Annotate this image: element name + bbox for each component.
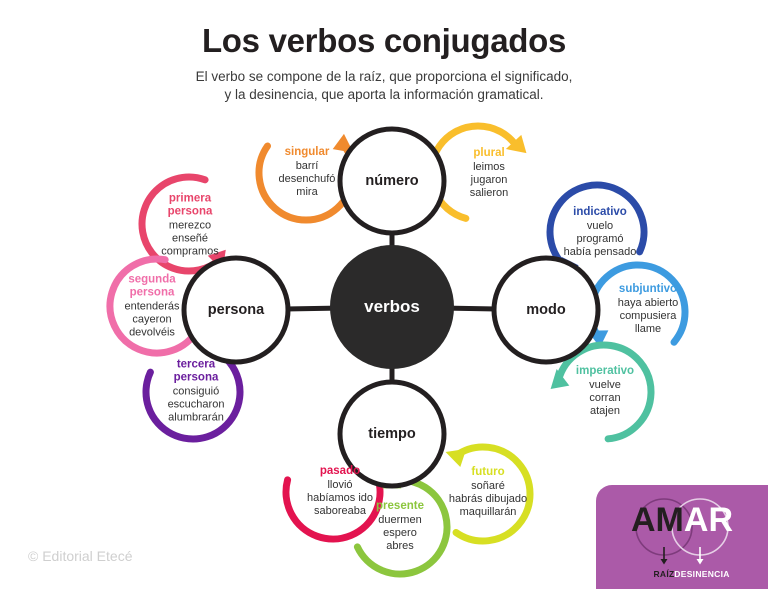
branch-examples-primera-persona: merezcoenseñécompramos — [120, 220, 260, 260]
connector-persona — [285, 308, 336, 309]
branch-title-subjuntivo: subjuntivo — [578, 283, 718, 296]
branch-tercera-persona[interactable]: tercerapersonaconsiguióescucharonalumbra… — [126, 359, 266, 426]
branch-title-imperativo: imperativo — [535, 365, 675, 378]
branch-imperativo[interactable]: imperativovuelvecorranatajen — [535, 365, 675, 419]
branch-title-plural: plural — [419, 147, 559, 160]
brand-word-root: AM — [631, 501, 684, 539]
credit-text: © Editorial Etecé — [28, 548, 132, 564]
branch-examples-plural: leimosjugaronsalieron — [419, 161, 559, 201]
branch-examples-imperativo: vuelvecorranatajen — [535, 379, 675, 419]
branch-primera-persona[interactable]: primerapersonamerezcoenseñécompramos — [120, 193, 260, 260]
branch-title-segunda-persona: segundapersona — [82, 274, 222, 300]
brand-caption-root: RAÍZ — [653, 569, 674, 579]
connector-modo — [448, 308, 497, 309]
branch-title-futuro: futuro — [418, 466, 558, 479]
hub-label-modo: modo — [526, 302, 565, 318]
arrowhead-futuro — [446, 449, 467, 467]
branch-subjuntivo[interactable]: subjuntivohaya abiertocompusierallame — [578, 283, 718, 337]
brand-box: AMAR RAÍZ DESINENCIA — [596, 485, 768, 589]
branch-examples-segunda-persona: entenderáscayerondevolvéis — [82, 301, 222, 341]
branch-title-tercera-persona: tercerapersona — [126, 359, 266, 385]
branch-futuro[interactable]: futurosoñaréhabrás dibujadomaquillarán — [418, 466, 558, 520]
hub-label-tiempo: tiempo — [368, 426, 416, 442]
brand-word-ending: AR — [684, 501, 733, 539]
branch-examples-futuro: soñaréhabrás dibujadomaquillarán — [418, 480, 558, 520]
infographic-canvas: Los verbos conjugados El verbo se compon… — [0, 0, 768, 589]
branch-examples-presente: duermenesperoabres — [330, 514, 470, 554]
brand-root-arrow-head — [661, 559, 668, 565]
branch-title-indicativo: indicativo — [530, 206, 670, 219]
center-node-label: verbos — [364, 297, 420, 317]
brand-ending-arrow-head — [697, 559, 704, 565]
branch-title-primera-persona: primerapersona — [120, 193, 260, 219]
branch-examples-subjuntivo: haya abiertocompusierallame — [578, 297, 718, 337]
branch-segunda-persona[interactable]: segundapersonaentenderáscayerondevolvéis — [82, 274, 222, 341]
branch-plural[interactable]: pluralleimosjugaronsalieron — [419, 147, 559, 201]
branch-examples-indicativo: vueloprogramóhabía pensado — [530, 220, 670, 260]
branch-title-singular: singular — [237, 146, 377, 159]
branch-title-pasado: pasado — [270, 465, 410, 478]
branch-examples-tercera-persona: consiguióescucharonalumbrarán — [126, 386, 266, 426]
brand-word: AMAR — [596, 503, 768, 537]
brand-caption-ending: DESINENCIA — [674, 569, 729, 579]
branch-indicativo[interactable]: indicativovueloprogramóhabía pensado — [530, 206, 670, 260]
